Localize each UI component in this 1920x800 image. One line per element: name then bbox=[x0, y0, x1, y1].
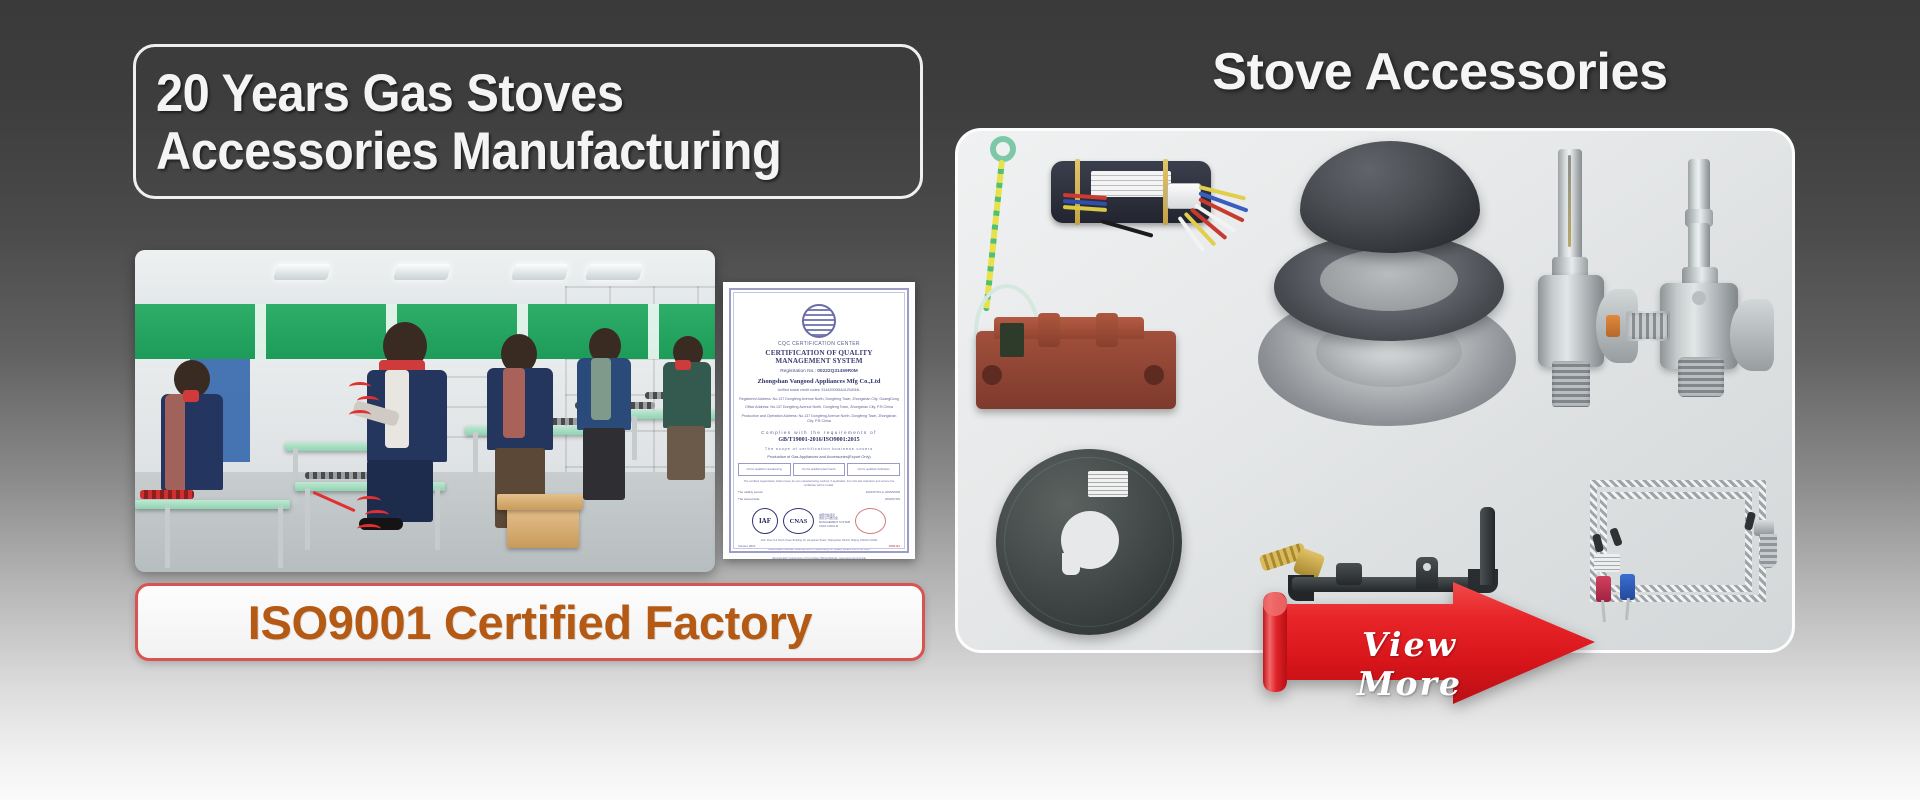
view-more-button[interactable]: View More bbox=[1257, 580, 1597, 710]
cert-reg-no: 00222Q31459R0M bbox=[817, 369, 858, 374]
cert-title: CERTIFICATION OF QUALITY MANAGEMENT SYST… bbox=[738, 349, 900, 365]
thermocouple-braided-cable bbox=[1568, 476, 1795, 641]
left-panel: 20 Years Gas Stoves Accessories Manufact… bbox=[0, 0, 960, 800]
cert-box-1: Not for qualified manufacturing bbox=[738, 463, 791, 476]
cert-company: Zhongshan Vangood Appliances Mfg Co.,Ltd bbox=[738, 378, 900, 385]
cert-accred-4: CNAS C2001-M bbox=[819, 525, 850, 529]
cert-address-3: Production and Operation Address: No.137… bbox=[738, 414, 900, 425]
iaf-logo-icon: IAF bbox=[752, 508, 778, 534]
cert-complies-label: Complies with the requirements of bbox=[738, 430, 900, 435]
cqc-logo-icon bbox=[802, 304, 836, 338]
cert-bottom-2: Authorization Website: www.cqc.com.cn Su… bbox=[738, 548, 900, 552]
cert-bottom-1: Add: Floor 9 & North Tower Building 16, … bbox=[738, 539, 900, 543]
cert-scope-label: The scope of certification business cove… bbox=[738, 447, 900, 451]
view-more-arrow-icon[interactable] bbox=[1257, 580, 1597, 710]
cert-issuer: CQC CERTIFICATION CENTER bbox=[738, 341, 900, 347]
cert-serial: 1846112 bbox=[889, 544, 900, 548]
cert-scope: Production of Gas Appliances and Accesso… bbox=[738, 454, 900, 459]
cert-bottom-3: Administration Supervision of Committee … bbox=[738, 557, 900, 561]
iso9001-banner: ISO9001 Certified Factory bbox=[135, 583, 925, 661]
cert-fine-print: The certified organization shall ensure … bbox=[738, 479, 900, 487]
burner-drip-plate bbox=[996, 449, 1186, 639]
iso9001-banner-text: ISO9001 Certified Factory bbox=[248, 595, 813, 650]
products-panel bbox=[955, 128, 1795, 653]
cert-issue-value: 2022/07/05 bbox=[885, 497, 900, 501]
cert-issue: The issued date: bbox=[738, 497, 760, 501]
pulse-ignitor-module bbox=[1033, 149, 1233, 244]
gas-control-valve-angled bbox=[1630, 159, 1790, 424]
cert-reg-label: Registration No.: bbox=[780, 369, 816, 374]
ignition-controller bbox=[976, 309, 1186, 417]
headline-line-1: 20 Years Gas Stoves bbox=[156, 67, 850, 121]
cert-version: Version 2021 bbox=[738, 544, 756, 548]
right-panel: Stove Accessories bbox=[960, 0, 1920, 800]
cnas-logo-icon: CNAS bbox=[783, 508, 814, 534]
cert-validity: The validity period: bbox=[738, 490, 763, 494]
cert-address-1: Registered Address: No.137 Dongfeng Aven… bbox=[738, 397, 900, 403]
headline-line-2: Accessories Manufacturing bbox=[156, 125, 850, 179]
cert-unified-code: Unified social credit codes: 91442000MA4… bbox=[738, 388, 900, 394]
official-stamp-icon bbox=[855, 508, 886, 534]
accessories-title: Stove Accessories bbox=[960, 42, 1920, 102]
cert-box-3: Not for qualified certification bbox=[847, 463, 900, 476]
headline-box: 20 Years Gas Stoves Accessories Manufact… bbox=[133, 44, 923, 199]
factory-photo bbox=[135, 250, 715, 572]
cert-box-2: Not for qualified plant branch bbox=[793, 463, 846, 476]
cert-standard: GB/T19001-2016/ISO9001:2015 bbox=[738, 437, 900, 443]
iso-certificate: CQC CERTIFICATION CENTER CERTIFICATION O… bbox=[723, 282, 915, 559]
burner-cap-and-ring-assembly bbox=[1258, 141, 1518, 431]
cert-address-2: Office Address: No.137 Dongfeng Avenue N… bbox=[738, 405, 900, 411]
gas-control-valve-straight bbox=[1518, 149, 1648, 414]
cert-validity-value: 2022/07/04 to 2025/09/08 bbox=[866, 490, 900, 494]
